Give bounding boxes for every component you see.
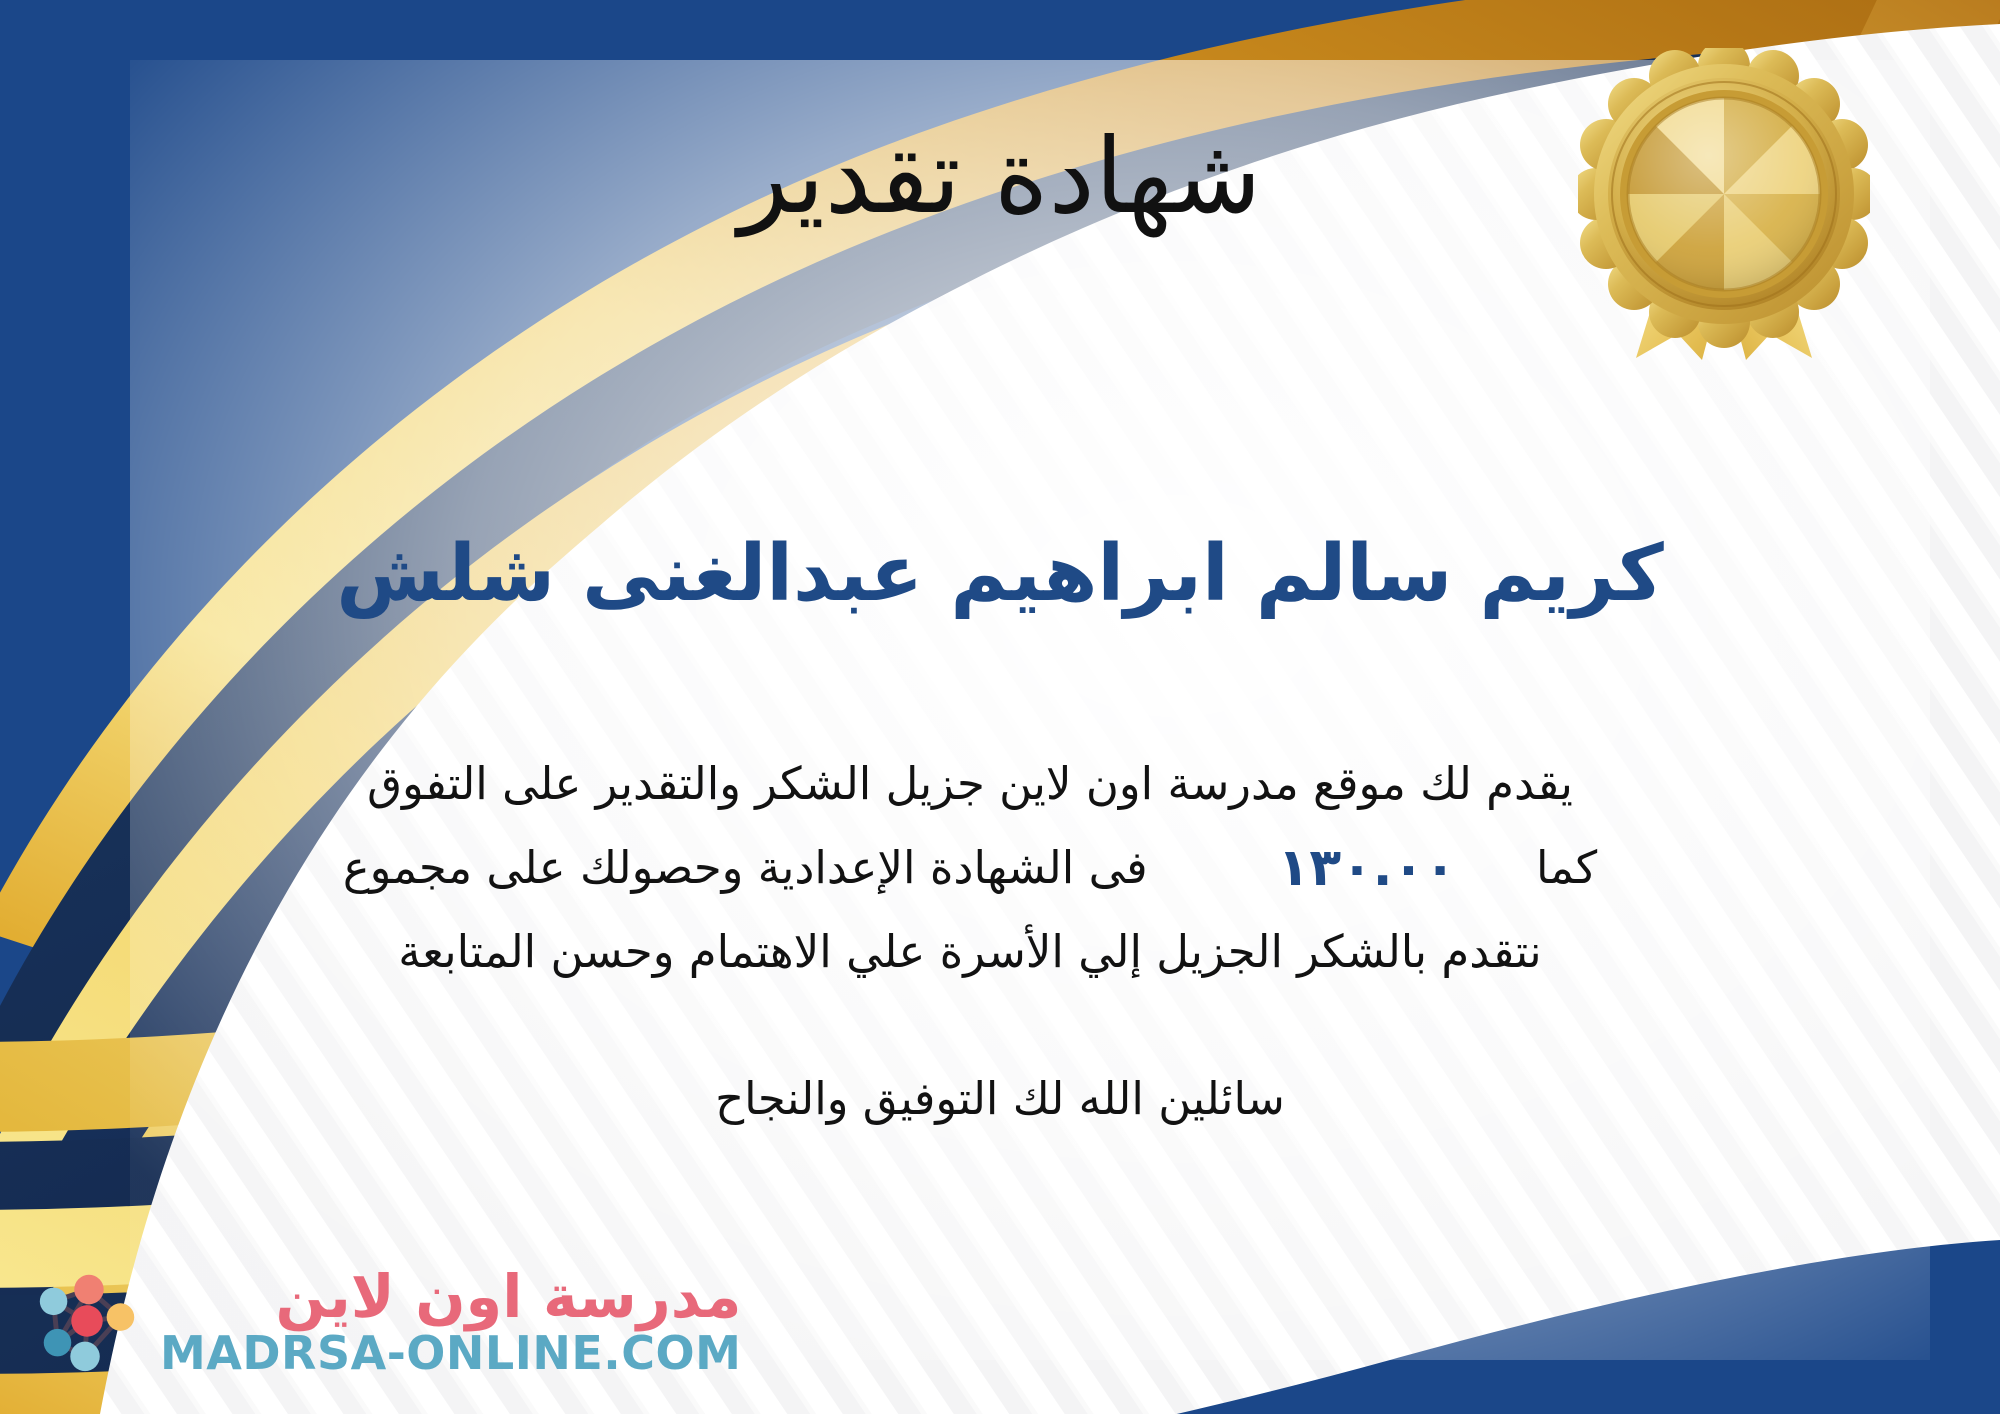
brand-website-url: MADRSA-ONLINE.COM — [160, 1330, 741, 1376]
certificate-canvas: شهادة تقدير كريم سالم ابراهيم عبدالغنى ش… — [0, 0, 2000, 1414]
brand-logo-text: مدرسة اون لاين MADRSA-ONLINE.COM — [160, 1267, 741, 1376]
body-line-1: يقدم لك موقع مدرسة اون لاين جزيل الشكر و… — [55, 742, 1885, 826]
body-line-2: كما ١٣٠.٠٠ فى الشهادة الإعدادية وحصولك ع… — [55, 826, 1885, 910]
node-salmon — [74, 1275, 104, 1305]
body-line-3: نتقدم بالشكر الجزيل إلي الأسرة علي الاهت… — [55, 910, 1885, 994]
node-light-teal — [40, 1288, 68, 1316]
gold-medal-seal-icon — [1578, 48, 1870, 360]
brand-name-arabic: مدرسة اون لاين — [275, 1267, 741, 1326]
body-line-2-end: كما — [1536, 826, 1597, 910]
node-blue — [44, 1329, 72, 1357]
grade-total-value: ١٣٠.٠٠ — [1268, 826, 1466, 910]
recipient-name: كريم سالم ابراهيم عبدالغنى شلش — [0, 528, 2000, 620]
node-teal — [70, 1342, 100, 1372]
network-nodes-icon — [28, 1262, 146, 1380]
node-orange — [107, 1303, 135, 1331]
body-line-2-start: فى الشهادة الإعدادية وحصولك على مجموع — [343, 826, 1148, 910]
brand-logo[interactable]: مدرسة اون لاين MADRSA-ONLINE.COM — [28, 1262, 741, 1380]
closing-line: سائلين الله لك التوفيق والنجاح — [0, 1070, 2000, 1129]
body-text: يقدم لك موقع مدرسة اون لاين جزيل الشكر و… — [55, 742, 1885, 994]
node-red — [71, 1305, 102, 1336]
